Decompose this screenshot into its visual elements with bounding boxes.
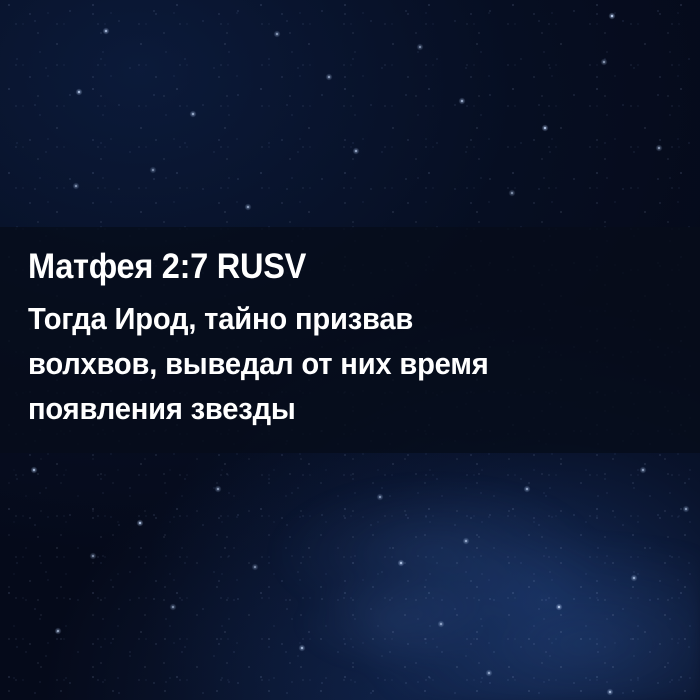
star — [511, 192, 513, 194]
star — [440, 623, 442, 625]
star — [609, 691, 611, 693]
star — [526, 488, 528, 490]
star — [642, 469, 644, 471]
verse-text-line: появления звезды — [28, 386, 660, 431]
verse-text-line: волхвов, выведал от них время — [28, 341, 660, 386]
star — [247, 206, 249, 208]
star — [558, 606, 561, 609]
star — [419, 46, 421, 48]
star — [139, 522, 141, 524]
star — [57, 630, 59, 632]
star — [105, 30, 107, 32]
star — [603, 61, 605, 63]
verse-overlay-band: Матфея 2:7 RUSV Тогда Ирод, тайно призва… — [0, 227, 700, 453]
star — [328, 76, 330, 78]
verse-text-line: Тогда Ирод, тайно призвав — [28, 296, 660, 341]
star — [633, 577, 635, 579]
star — [461, 100, 463, 102]
star — [544, 127, 546, 129]
star — [301, 647, 303, 649]
star — [192, 113, 194, 115]
star — [611, 15, 614, 18]
verse-image-canvas: Матфея 2:7 RUSV Тогда Ирод, тайно призва… — [0, 0, 700, 700]
star — [78, 91, 80, 93]
star — [488, 672, 490, 674]
star — [658, 147, 660, 149]
star — [355, 150, 357, 152]
star — [276, 33, 278, 35]
star — [152, 169, 154, 171]
verse-text: Тогда Ирод, тайно призвав волхвов, вывед… — [28, 296, 660, 431]
star — [217, 488, 219, 490]
star — [254, 566, 256, 568]
star — [465, 540, 467, 542]
star — [92, 555, 94, 557]
star — [400, 562, 402, 564]
star — [172, 606, 174, 608]
verse-reference: Матфея 2:7 RUSV — [28, 249, 653, 284]
star — [75, 185, 77, 187]
star — [379, 496, 381, 498]
star — [685, 508, 687, 510]
star — [33, 469, 35, 471]
